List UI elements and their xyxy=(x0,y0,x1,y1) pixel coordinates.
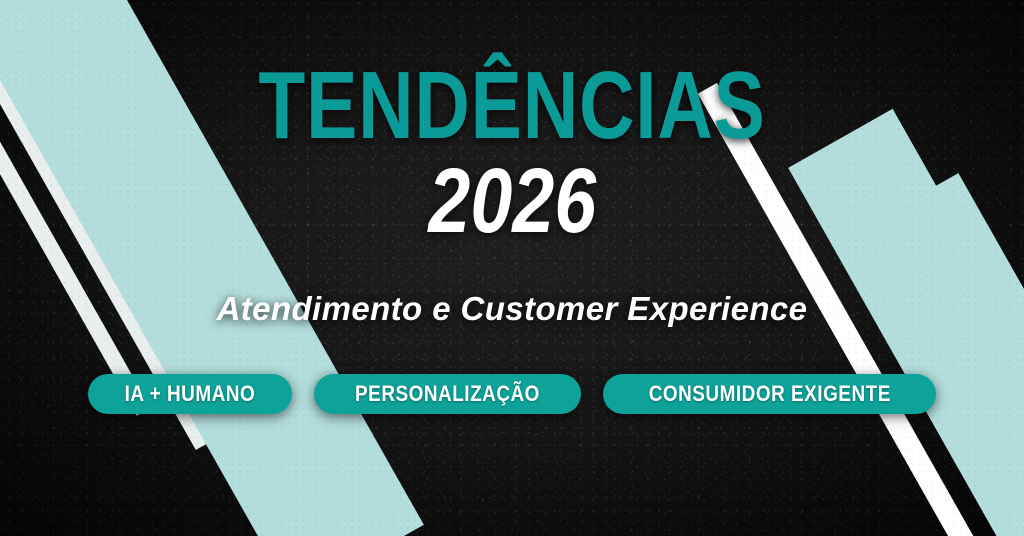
tag-pill-label: PERSONALIZAÇÃO xyxy=(355,381,540,407)
tag-pill-label: CONSUMIDOR EXIGENTE xyxy=(648,381,890,407)
tag-pill-personalizacao[interactable]: PERSONALIZAÇÃO xyxy=(314,374,581,414)
banner-title: TENDÊNCIAS xyxy=(258,62,765,150)
promo-banner: TENDÊNCIAS 2026 Atendimento e Customer E… xyxy=(0,0,1024,536)
tag-pill-consumidor-exigente[interactable]: CONSUMIDOR EXIGENTE xyxy=(603,374,937,414)
banner-content: TENDÊNCIAS 2026 Atendimento e Customer E… xyxy=(0,0,1024,536)
tag-pill-ia-humano[interactable]: IA + HUMANO xyxy=(88,374,292,414)
tag-pill-group: IA + HUMANO PERSONALIZAÇÃO CONSUMIDOR EX… xyxy=(88,374,936,414)
banner-subtitle: Atendimento e Customer Experience xyxy=(217,290,808,328)
tag-pill-label: IA + HUMANO xyxy=(124,381,255,407)
banner-year: 2026 xyxy=(428,158,596,245)
